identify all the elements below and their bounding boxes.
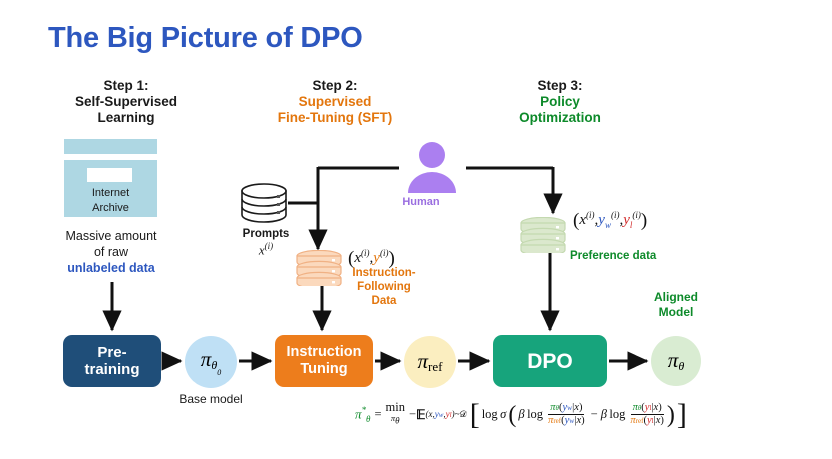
aligned-model-line2: Model (634, 305, 718, 320)
instruction-data-line2: Following (348, 280, 420, 294)
step-3-heading: Step 3: Policy Optimization (470, 78, 650, 126)
step-2-heading: Step 2: Supervised Fine-Tuning (SFT) (240, 78, 430, 126)
pretraining-box[interactable]: Pre- training (63, 335, 161, 387)
step-1-line2: Learning (36, 110, 216, 126)
pretraining-line1: Pre- (85, 344, 140, 361)
step-3-number: Step 3: (470, 78, 650, 94)
human-label: Human (380, 196, 462, 208)
dpo-box[interactable]: DPO (493, 335, 607, 387)
instruction-tuning-box[interactable]: Instruction Tuning (275, 335, 373, 387)
base-model-symbol: πθ0 (201, 347, 221, 377)
internet-archive-top-bar (64, 139, 157, 154)
page-title: The Big Picture of DPO (48, 22, 363, 55)
instruction-data-line3: Data (348, 294, 420, 308)
dpo-objective-formula: π*θ = min πθ − 𝔼 (x,yw,yl)~𝒟 [ log σ ( β… (355, 402, 687, 427)
internet-archive-logo-plate (87, 168, 132, 182)
internet-archive-label: Internet Archive (64, 186, 157, 216)
preference-data-database-icon (519, 217, 567, 253)
step-3-line2: Optimization (470, 110, 650, 126)
aligned-model-symbol: πθ (668, 348, 684, 374)
step-2-line2: Fine-Tuning (SFT) (240, 110, 430, 126)
instruction-data-label: Instruction- Following Data (348, 266, 420, 308)
step-2-line1: Supervised (240, 94, 430, 110)
massive-line2: of raw (40, 244, 182, 260)
prompts-symbol: x(i) (226, 241, 306, 258)
dpo-label: DPO (527, 353, 573, 370)
instruction-data-line1: Instruction- (348, 266, 420, 280)
aligned-model-caption: Aligned Model (634, 290, 718, 320)
prompts-database-icon (240, 183, 288, 223)
massive-line3: unlabeled data (40, 260, 182, 276)
preference-data-label: Preference data (570, 250, 656, 262)
instruction-data-database-icon (295, 250, 343, 286)
preference-data-tuple: (x(i),yw(i),yl(i)) (573, 210, 647, 232)
step-2-number: Step 2: (240, 78, 430, 94)
step-1-line1: Self-Supervised (36, 94, 216, 110)
aligned-model-circle[interactable]: πθ (651, 336, 701, 386)
aligned-model-line1: Aligned (634, 290, 718, 305)
step-3-line1: Policy (470, 94, 650, 110)
internet-archive-line1: Internet (64, 186, 157, 201)
instruction-tuning-line1: Instruction (287, 344, 362, 361)
internet-archive-line2: Archive (64, 201, 157, 216)
base-model-caption: Base model (168, 392, 254, 406)
instruction-tuning-line2: Tuning (287, 361, 362, 378)
step-1-heading: Step 1: Self-Supervised Learning (36, 78, 216, 126)
step-1-number: Step 1: (36, 78, 216, 94)
reference-policy-circle[interactable]: πref (404, 336, 456, 388)
human-icon (404, 141, 460, 198)
reference-policy-symbol: πref (418, 349, 443, 375)
massive-data-caption: Massive amount of raw unlabeled data (40, 228, 182, 276)
prompts-label: Prompts (226, 227, 306, 242)
diagram-canvas: The Big Picture of DPO Step 1: Self-Supe… (0, 0, 832, 459)
base-model-circle[interactable]: πθ0 (185, 336, 237, 388)
pretraining-line2: training (85, 361, 140, 378)
massive-line1: Massive amount (40, 228, 182, 244)
